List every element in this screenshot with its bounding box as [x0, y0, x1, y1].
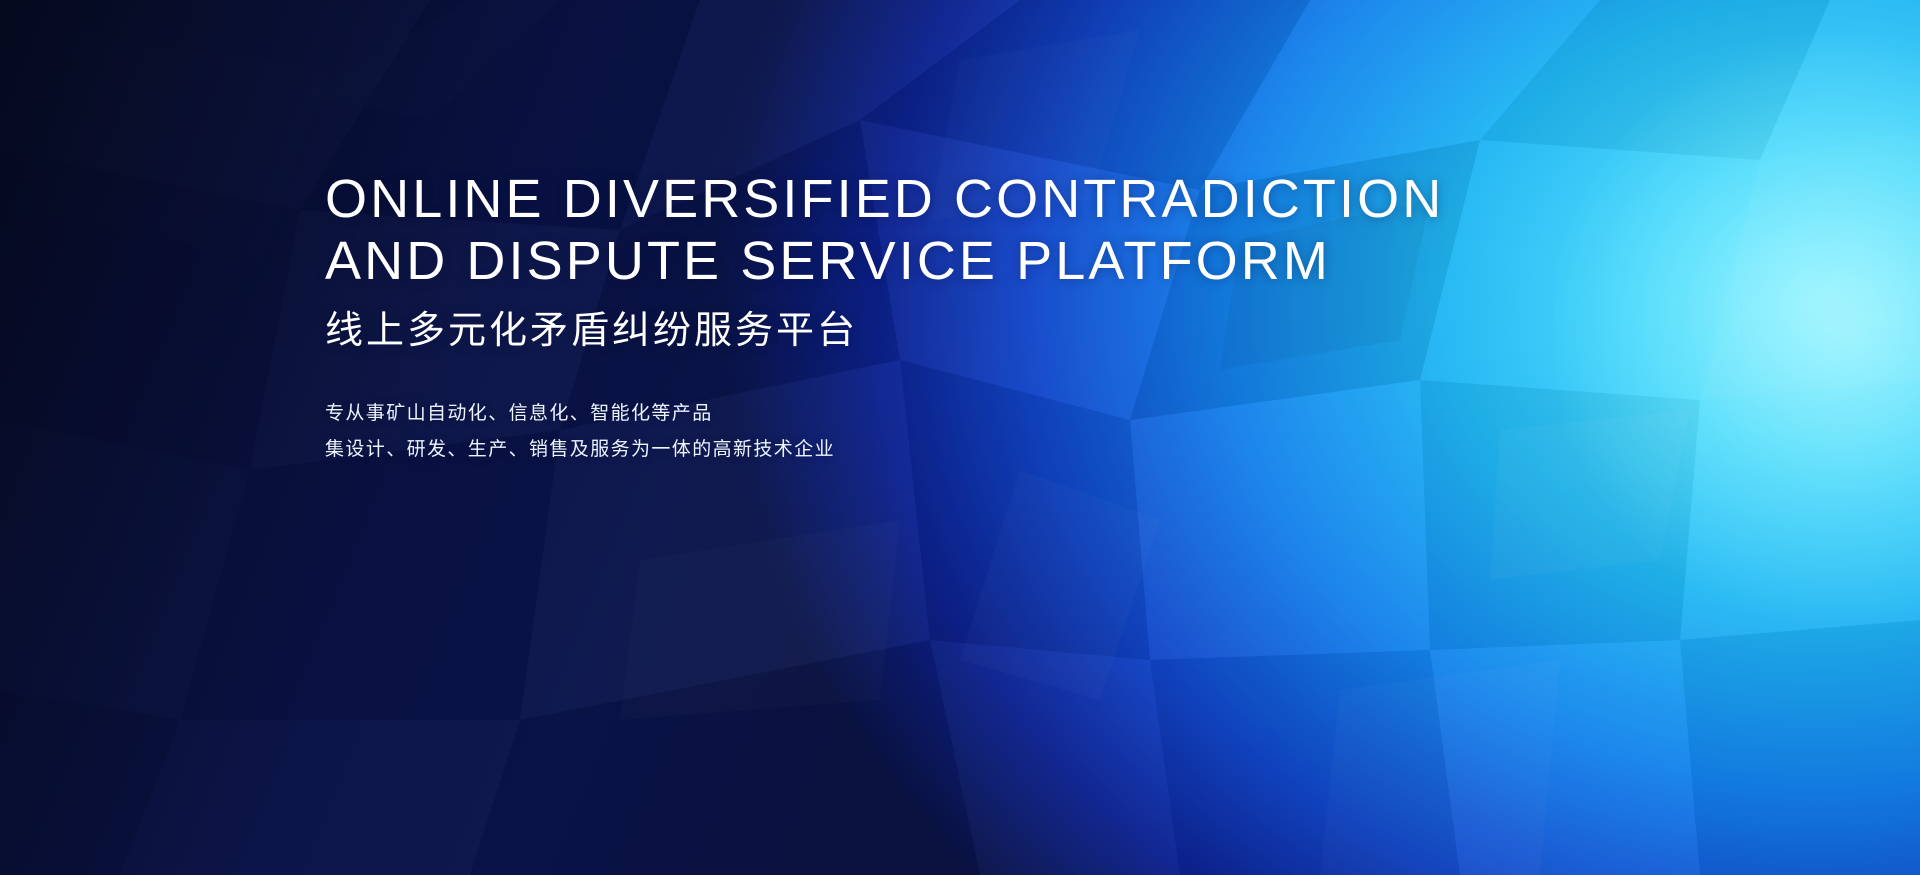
- subtitle-chinese: 线上多元化矛盾纠纷服务平台: [325, 306, 1575, 356]
- description-block: 专从事矿山自动化、信息化、智能化等产品 集设计、研发、生产、销售及服务为一体的高…: [325, 396, 1575, 468]
- headline-line-1: ONLINE DIVERSIFIED CONTRADICTION: [325, 168, 1575, 230]
- description-line-2: 集设计、研发、生产、销售及服务为一体的高新技术企业: [325, 432, 1575, 468]
- description-line-1: 专从事矿山自动化、信息化、智能化等产品: [325, 396, 1575, 432]
- hero-banner: ONLINE DIVERSIFIED CONTRADICTION AND DIS…: [0, 0, 1920, 875]
- headline-line-2: AND DISPUTE SERVICE PLATFORM: [325, 230, 1575, 292]
- hero-content: ONLINE DIVERSIFIED CONTRADICTION AND DIS…: [325, 168, 1575, 468]
